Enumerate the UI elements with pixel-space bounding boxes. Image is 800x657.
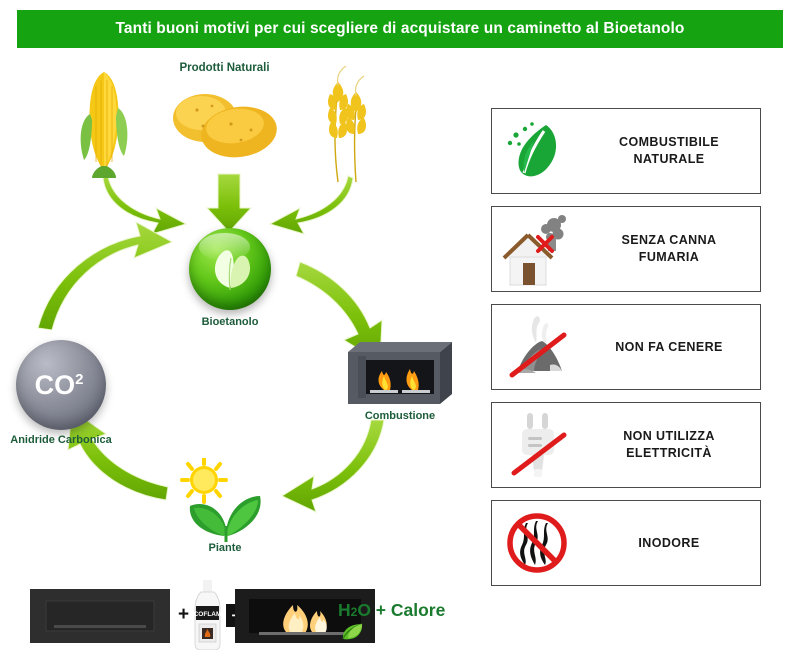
feature-label: NON UTILIZZAELETTRICITÀ [584, 428, 760, 462]
leaf-icon [492, 109, 584, 193]
combustione-fireplace-icon [348, 338, 452, 404]
potatoes-icon [167, 88, 281, 160]
feature-box-non-utilizza-elettricita[interactable]: NON UTILIZZAELETTRICITÀ [491, 402, 761, 488]
co2-sphere-icon: CO2 [16, 340, 106, 430]
feature-label: COMBUSTIBILENATURALE [584, 134, 760, 168]
power-plug-crossed-icon [492, 403, 584, 487]
infographic-canvas: Tanti buoni motivi per cui scegliere di … [0, 0, 800, 657]
arrow-co2-to-bioetanolo [38, 222, 172, 330]
bioetanolo-sphere-icon [189, 228, 271, 310]
bottle-label: ECOFLAME [192, 611, 223, 618]
sphere-leaf-glyph [189, 228, 271, 310]
wheat-icon [316, 64, 376, 182]
feature-box-senza-canna-fumaria[interactable]: SENZA CANNAFUMARIA [491, 206, 761, 292]
label-piante: Piante [173, 542, 277, 554]
sun-icon [182, 458, 226, 502]
small-leaf-icon [340, 622, 366, 642]
feature-box-inodore[interactable]: INODORE [491, 500, 761, 586]
empty-fireplace-icon [30, 589, 170, 643]
co2-formula: CO2 [35, 372, 84, 399]
arrow-produce-right [270, 176, 353, 234]
label-bioetanolo: Bioetanolo [177, 316, 283, 328]
label-anidride-carbonica: Anidride Carbonica [0, 434, 122, 446]
bioethanol-bottle-icon: ECOFLAME [192, 580, 223, 650]
feature-box-non-fa-cenere[interactable]: NON FA CENERE [491, 304, 761, 390]
label-prodotti-naturali: Prodotti Naturali [152, 62, 297, 74]
house-chimney-crossed-icon [492, 207, 584, 291]
feature-label: NON FA CENERE [584, 339, 760, 356]
label-combustione: Combustione [344, 410, 456, 422]
feature-box-list: COMBUSTIBILENATURALE [491, 108, 761, 598]
piante-icon [170, 458, 280, 542]
page-title: Tanti buoni motivi per cui scegliere di … [116, 20, 685, 38]
ash-pile-crossed-icon [492, 305, 584, 389]
arrow-produce-center [207, 174, 251, 232]
plus-sign: + [178, 604, 189, 626]
title-banner: Tanti buoni motivi per cui scegliere di … [17, 10, 783, 48]
feature-label: SENZA CANNAFUMARIA [584, 232, 760, 266]
corn-icon [78, 68, 132, 178]
result-label: H2O + Calore [338, 600, 445, 621]
feature-box-combustibile-naturale[interactable]: COMBUSTIBILENATURALE [491, 108, 761, 194]
feature-label: INODORE [584, 535, 760, 552]
no-smell-icon [492, 501, 584, 585]
bioethanol-cycle-diagram: Prodotti Naturali [0, 48, 480, 568]
arrow-combustione-to-piante [282, 420, 384, 512]
bottom-process-strip: + ECOFLAME ➔ H2O [30, 580, 480, 652]
arrow-produce-left [103, 176, 186, 234]
